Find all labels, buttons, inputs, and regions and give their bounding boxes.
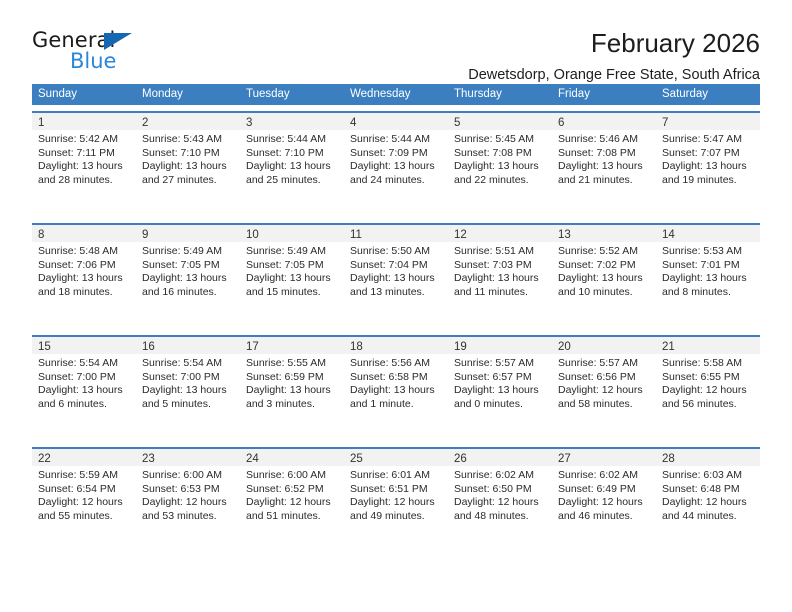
daylight-text-line1: Daylight: 13 hours	[454, 384, 545, 398]
sunset-text: Sunset: 7:02 PM	[558, 259, 649, 273]
daylight-text-line2: and 19 minutes.	[662, 174, 753, 188]
day-info: Sunrise: 5:49 AM Sunset: 7:05 PM Dayligh…	[240, 242, 344, 299]
sunset-text: Sunset: 6:49 PM	[558, 483, 649, 497]
day-number-band: 21	[656, 337, 760, 354]
day-number: 25	[350, 453, 363, 465]
sunset-text: Sunset: 7:00 PM	[142, 371, 233, 385]
daylight-text-line2: and 16 minutes.	[142, 286, 233, 300]
day-info: Sunrise: 5:51 AM Sunset: 7:03 PM Dayligh…	[448, 242, 552, 299]
day-info: Sunrise: 5:54 AM Sunset: 7:00 PM Dayligh…	[32, 354, 136, 411]
day-number-band: 10	[240, 225, 344, 242]
logo-text-blue: Blue	[70, 49, 116, 73]
day-info: Sunrise: 6:01 AM Sunset: 6:51 PM Dayligh…	[344, 466, 448, 523]
sunset-text: Sunset: 7:00 PM	[38, 371, 129, 385]
sunset-text: Sunset: 6:54 PM	[38, 483, 129, 497]
calendar-day-cell[interactable]: 6 Sunrise: 5:46 AM Sunset: 7:08 PM Dayli…	[552, 113, 656, 217]
day-number-band: 7	[656, 113, 760, 130]
sunrise-text: Sunrise: 5:45 AM	[454, 133, 545, 147]
page-subtitle: Dewetsdorp, Orange Free State, South Afr…	[152, 65, 760, 85]
sunrise-text: Sunrise: 5:56 AM	[350, 357, 441, 371]
sunrise-text: Sunrise: 6:02 AM	[558, 469, 649, 483]
sunset-text: Sunset: 7:10 PM	[246, 147, 337, 161]
daylight-text-line1: Daylight: 12 hours	[142, 496, 233, 510]
daylight-text-line1: Daylight: 13 hours	[350, 160, 441, 174]
daylight-text-line1: Daylight: 13 hours	[246, 272, 337, 286]
day-number: 18	[350, 341, 363, 353]
day-info: Sunrise: 5:50 AM Sunset: 7:04 PM Dayligh…	[344, 242, 448, 299]
sunset-text: Sunset: 7:05 PM	[142, 259, 233, 273]
sunrise-text: Sunrise: 5:44 AM	[246, 133, 337, 147]
sunrise-text: Sunrise: 6:01 AM	[350, 469, 441, 483]
day-number: 6	[558, 117, 564, 129]
day-info: Sunrise: 5:48 AM Sunset: 7:06 PM Dayligh…	[32, 242, 136, 299]
day-number: 12	[454, 229, 467, 241]
calendar-day-cell[interactable]: 1 Sunrise: 5:42 AM Sunset: 7:11 PM Dayli…	[32, 113, 136, 217]
day-info: Sunrise: 5:53 AM Sunset: 7:01 PM Dayligh…	[656, 242, 760, 299]
page-title: February 2026	[152, 28, 760, 58]
sunrise-text: Sunrise: 5:44 AM	[350, 133, 441, 147]
daylight-text-line2: and 18 minutes.	[38, 286, 129, 300]
day-number: 9	[142, 229, 148, 241]
day-info: Sunrise: 5:56 AM Sunset: 6:58 PM Dayligh…	[344, 354, 448, 411]
day-number: 21	[662, 341, 675, 353]
weekday-header-tuesday: Tuesday	[240, 84, 344, 105]
month-calendar: Sunday Monday Tuesday Wednesday Thursday…	[32, 84, 760, 553]
sunset-text: Sunset: 6:52 PM	[246, 483, 337, 497]
calendar-day-cell[interactable]: 4 Sunrise: 5:44 AM Sunset: 7:09 PM Dayli…	[344, 113, 448, 217]
day-number-band: 28	[656, 449, 760, 466]
daylight-text-line1: Daylight: 13 hours	[662, 272, 753, 286]
day-info: Sunrise: 5:57 AM Sunset: 6:57 PM Dayligh…	[448, 354, 552, 411]
daylight-text-line2: and 28 minutes.	[38, 174, 129, 188]
day-number-band: 23	[136, 449, 240, 466]
day-info: Sunrise: 5:52 AM Sunset: 7:02 PM Dayligh…	[552, 242, 656, 299]
daylight-text-line2: and 22 minutes.	[454, 174, 545, 188]
sunset-text: Sunset: 7:05 PM	[246, 259, 337, 273]
day-number-band: 15	[32, 337, 136, 354]
daylight-text-line2: and 11 minutes.	[454, 286, 545, 300]
daylight-text-line1: Daylight: 13 hours	[558, 272, 649, 286]
daylight-text-line2: and 8 minutes.	[662, 286, 753, 300]
day-number-band: 22	[32, 449, 136, 466]
calendar-day-cell[interactable]: 7 Sunrise: 5:47 AM Sunset: 7:07 PM Dayli…	[656, 113, 760, 217]
weekday-header-thursday: Thursday	[448, 84, 552, 105]
day-number-band: 9	[136, 225, 240, 242]
sunrise-text: Sunrise: 5:46 AM	[558, 133, 649, 147]
daylight-text-line1: Daylight: 12 hours	[454, 496, 545, 510]
day-number-band: 16	[136, 337, 240, 354]
day-number-band: 12	[448, 225, 552, 242]
day-number-band: 6	[552, 113, 656, 130]
sunrise-text: Sunrise: 6:00 AM	[142, 469, 233, 483]
sunrise-text: Sunrise: 5:55 AM	[246, 357, 337, 371]
day-number: 20	[558, 341, 571, 353]
calendar-day-cell[interactable]: 10 Sunrise: 5:49 AM Sunset: 7:05 PM Dayl…	[240, 225, 344, 329]
calendar-day-cell[interactable]: 15 Sunrise: 5:54 AM Sunset: 7:00 PM Dayl…	[32, 337, 136, 441]
day-number-band: 19	[448, 337, 552, 354]
calendar-day-cell[interactable]: 27 Sunrise: 6:02 AM Sunset: 6:49 PM Dayl…	[552, 449, 656, 553]
daylight-text-line1: Daylight: 13 hours	[38, 160, 129, 174]
day-number-band: 17	[240, 337, 344, 354]
daylight-text-line1: Daylight: 12 hours	[558, 496, 649, 510]
daylight-text-line2: and 46 minutes.	[558, 510, 649, 524]
sunset-text: Sunset: 7:10 PM	[142, 147, 233, 161]
daylight-text-line1: Daylight: 12 hours	[662, 384, 753, 398]
day-number-band: 25	[344, 449, 448, 466]
day-info: Sunrise: 6:02 AM Sunset: 6:49 PM Dayligh…	[552, 466, 656, 523]
daylight-text-line2: and 1 minute.	[350, 398, 441, 412]
day-number-band: 11	[344, 225, 448, 242]
daylight-text-line2: and 51 minutes.	[246, 510, 337, 524]
day-number-band: 2	[136, 113, 240, 130]
daylight-text-line2: and 49 minutes.	[350, 510, 441, 524]
sunrise-text: Sunrise: 5:54 AM	[142, 357, 233, 371]
sunset-text: Sunset: 7:04 PM	[350, 259, 441, 273]
day-number: 10	[246, 229, 259, 241]
daylight-text-line1: Daylight: 12 hours	[662, 496, 753, 510]
calendar-week-row: 22 Sunrise: 5:59 AM Sunset: 6:54 PM Dayl…	[32, 447, 760, 553]
daylight-text-line2: and 24 minutes.	[350, 174, 441, 188]
day-number: 23	[142, 453, 155, 465]
calendar-day-cell[interactable]: 23 Sunrise: 6:00 AM Sunset: 6:53 PM Dayl…	[136, 449, 240, 553]
calendar-day-cell[interactable]: 12 Sunrise: 5:51 AM Sunset: 7:03 PM Dayl…	[448, 225, 552, 329]
calendar-day-cell[interactable]: 26 Sunrise: 6:02 AM Sunset: 6:50 PM Dayl…	[448, 449, 552, 553]
calendar-day-cell[interactable]: 5 Sunrise: 5:45 AM Sunset: 7:08 PM Dayli…	[448, 113, 552, 217]
calendar-day-cell[interactable]: 20 Sunrise: 5:57 AM Sunset: 6:56 PM Dayl…	[552, 337, 656, 441]
day-number: 11	[350, 229, 362, 241]
day-number-band: 27	[552, 449, 656, 466]
day-number: 24	[246, 453, 259, 465]
weekday-header-saturday: Saturday	[656, 84, 760, 105]
daylight-text-line1: Daylight: 12 hours	[38, 496, 129, 510]
day-info: Sunrise: 6:02 AM Sunset: 6:50 PM Dayligh…	[448, 466, 552, 523]
daylight-text-line1: Daylight: 13 hours	[38, 384, 129, 398]
daylight-text-line2: and 55 minutes.	[38, 510, 129, 524]
weekday-header-wednesday: Wednesday	[344, 84, 448, 105]
daylight-text-line1: Daylight: 12 hours	[558, 384, 649, 398]
calendar-day-cell[interactable]: 8 Sunrise: 5:48 AM Sunset: 7:06 PM Dayli…	[32, 225, 136, 329]
sunrise-text: Sunrise: 5:49 AM	[246, 245, 337, 259]
day-number-band: 26	[448, 449, 552, 466]
day-info: Sunrise: 5:58 AM Sunset: 6:55 PM Dayligh…	[656, 354, 760, 411]
day-number-band: 4	[344, 113, 448, 130]
sunset-text: Sunset: 6:55 PM	[662, 371, 753, 385]
calendar-day-cell[interactable]: 22 Sunrise: 5:59 AM Sunset: 6:54 PM Dayl…	[32, 449, 136, 553]
day-number-band: 5	[448, 113, 552, 130]
calendar-week-row: 15 Sunrise: 5:54 AM Sunset: 7:00 PM Dayl…	[32, 335, 760, 441]
sunrise-text: Sunrise: 5:43 AM	[142, 133, 233, 147]
day-number: 26	[454, 453, 467, 465]
sunrise-text: Sunrise: 5:57 AM	[558, 357, 649, 371]
day-info: Sunrise: 5:49 AM Sunset: 7:05 PM Dayligh…	[136, 242, 240, 299]
sunset-text: Sunset: 7:03 PM	[454, 259, 545, 273]
day-number: 16	[142, 341, 155, 353]
sunset-text: Sunset: 6:58 PM	[350, 371, 441, 385]
daylight-text-line2: and 6 minutes.	[38, 398, 129, 412]
day-number: 3	[246, 117, 252, 129]
day-number: 28	[662, 453, 675, 465]
daylight-text-line1: Daylight: 13 hours	[142, 160, 233, 174]
daylight-text-line2: and 58 minutes.	[558, 398, 649, 412]
day-number: 4	[350, 117, 356, 129]
sunset-text: Sunset: 7:08 PM	[558, 147, 649, 161]
calendar-day-cell[interactable]: 18 Sunrise: 5:56 AM Sunset: 6:58 PM Dayl…	[344, 337, 448, 441]
calendar-day-cell[interactable]: 24 Sunrise: 6:00 AM Sunset: 6:52 PM Dayl…	[240, 449, 344, 553]
daylight-text-line2: and 0 minutes.	[454, 398, 545, 412]
weekday-header-sunday: Sunday	[32, 84, 136, 105]
weekday-header-row: Sunday Monday Tuesday Wednesday Thursday…	[32, 84, 760, 105]
daylight-text-line1: Daylight: 13 hours	[246, 160, 337, 174]
day-number-band: 18	[344, 337, 448, 354]
day-number: 15	[38, 341, 51, 353]
sunrise-text: Sunrise: 5:57 AM	[454, 357, 545, 371]
calendar-page: General Blue February 2026 Dewetsdorp, O…	[0, 0, 792, 612]
day-number-band: 24	[240, 449, 344, 466]
daylight-text-line2: and 3 minutes.	[246, 398, 337, 412]
sunrise-text: Sunrise: 5:47 AM	[662, 133, 753, 147]
calendar-week-row: 8 Sunrise: 5:48 AM Sunset: 7:06 PM Dayli…	[32, 223, 760, 329]
daylight-text-line2: and 13 minutes.	[350, 286, 441, 300]
daylight-text-line1: Daylight: 13 hours	[246, 384, 337, 398]
day-number-band: 8	[32, 225, 136, 242]
day-number: 27	[558, 453, 571, 465]
calendar-day-cell[interactable]: 14 Sunrise: 5:53 AM Sunset: 7:01 PM Dayl…	[656, 225, 760, 329]
day-info: Sunrise: 6:03 AM Sunset: 6:48 PM Dayligh…	[656, 466, 760, 523]
day-info: Sunrise: 5:47 AM Sunset: 7:07 PM Dayligh…	[656, 130, 760, 187]
daylight-text-line1: Daylight: 13 hours	[558, 160, 649, 174]
sunset-text: Sunset: 7:11 PM	[38, 147, 129, 161]
calendar-day-cell[interactable]: 28 Sunrise: 6:03 AM Sunset: 6:48 PM Dayl…	[656, 449, 760, 553]
daylight-text-line1: Daylight: 13 hours	[38, 272, 129, 286]
daylight-text-line1: Daylight: 13 hours	[350, 384, 441, 398]
daylight-text-line2: and 27 minutes.	[142, 174, 233, 188]
logo-triangle-icon	[104, 33, 132, 50]
calendar-day-cell[interactable]: 16 Sunrise: 5:54 AM Sunset: 7:00 PM Dayl…	[136, 337, 240, 441]
day-info: Sunrise: 5:57 AM Sunset: 6:56 PM Dayligh…	[552, 354, 656, 411]
day-number-band: 20	[552, 337, 656, 354]
day-info: Sunrise: 6:00 AM Sunset: 6:53 PM Dayligh…	[136, 466, 240, 523]
daylight-text-line1: Daylight: 13 hours	[350, 272, 441, 286]
sunrise-text: Sunrise: 5:59 AM	[38, 469, 129, 483]
sunset-text: Sunset: 7:06 PM	[38, 259, 129, 273]
sunset-text: Sunset: 6:48 PM	[662, 483, 753, 497]
day-info: Sunrise: 5:54 AM Sunset: 7:00 PM Dayligh…	[136, 354, 240, 411]
sunrise-text: Sunrise: 5:58 AM	[662, 357, 753, 371]
sunrise-text: Sunrise: 5:42 AM	[38, 133, 129, 147]
calendar-week-row: 1 Sunrise: 5:42 AM Sunset: 7:11 PM Dayli…	[32, 111, 760, 217]
daylight-text-line1: Daylight: 13 hours	[662, 160, 753, 174]
sunset-text: Sunset: 6:59 PM	[246, 371, 337, 385]
sunset-text: Sunset: 7:07 PM	[662, 147, 753, 161]
day-number-band: 14	[656, 225, 760, 242]
sunrise-text: Sunrise: 5:51 AM	[454, 245, 545, 259]
calendar-day-cell[interactable]: 19 Sunrise: 5:57 AM Sunset: 6:57 PM Dayl…	[448, 337, 552, 441]
sunrise-text: Sunrise: 6:03 AM	[662, 469, 753, 483]
day-number: 22	[38, 453, 51, 465]
title-block: February 2026 Dewetsdorp, Orange Free St…	[152, 28, 760, 85]
daylight-text-line2: and 10 minutes.	[558, 286, 649, 300]
calendar-day-cell[interactable]: 9 Sunrise: 5:49 AM Sunset: 7:05 PM Dayli…	[136, 225, 240, 329]
day-info: Sunrise: 5:45 AM Sunset: 7:08 PM Dayligh…	[448, 130, 552, 187]
day-number: 1	[38, 117, 44, 129]
daylight-text-line1: Daylight: 13 hours	[142, 384, 233, 398]
daylight-text-line2: and 56 minutes.	[662, 398, 753, 412]
sunset-text: Sunset: 7:01 PM	[662, 259, 753, 273]
sunrise-text: Sunrise: 5:50 AM	[350, 245, 441, 259]
calendar-day-cell[interactable]: 11 Sunrise: 5:50 AM Sunset: 7:04 PM Dayl…	[344, 225, 448, 329]
daylight-text-line2: and 44 minutes.	[662, 510, 753, 524]
day-info: Sunrise: 5:44 AM Sunset: 7:10 PM Dayligh…	[240, 130, 344, 187]
calendar-day-cell[interactable]: 17 Sunrise: 5:55 AM Sunset: 6:59 PM Dayl…	[240, 337, 344, 441]
day-number: 14	[662, 229, 675, 241]
daylight-text-line1: Daylight: 12 hours	[246, 496, 337, 510]
sunrise-text: Sunrise: 5:48 AM	[38, 245, 129, 259]
day-info: Sunrise: 5:44 AM Sunset: 7:09 PM Dayligh…	[344, 130, 448, 187]
daylight-text-line1: Daylight: 13 hours	[454, 272, 545, 286]
day-number: 13	[558, 229, 571, 241]
sunset-text: Sunset: 6:53 PM	[142, 483, 233, 497]
day-number-band: 13	[552, 225, 656, 242]
sunrise-text: Sunrise: 5:49 AM	[142, 245, 233, 259]
weekday-header-friday: Friday	[552, 84, 656, 105]
daylight-text-line2: and 25 minutes.	[246, 174, 337, 188]
daylight-text-line2: and 5 minutes.	[142, 398, 233, 412]
calendar-day-cell[interactable]: 25 Sunrise: 6:01 AM Sunset: 6:51 PM Dayl…	[344, 449, 448, 553]
day-info: Sunrise: 5:55 AM Sunset: 6:59 PM Dayligh…	[240, 354, 344, 411]
day-number-band: 1	[32, 113, 136, 130]
sunset-text: Sunset: 6:56 PM	[558, 371, 649, 385]
sunrise-text: Sunrise: 6:02 AM	[454, 469, 545, 483]
daylight-text-line1: Daylight: 13 hours	[142, 272, 233, 286]
daylight-text-line2: and 53 minutes.	[142, 510, 233, 524]
day-number-band: 3	[240, 113, 344, 130]
day-number: 17	[246, 341, 259, 353]
daylight-text-line2: and 48 minutes.	[454, 510, 545, 524]
day-info: Sunrise: 5:59 AM Sunset: 6:54 PM Dayligh…	[32, 466, 136, 523]
daylight-text-line1: Daylight: 12 hours	[350, 496, 441, 510]
sunrise-text: Sunrise: 5:53 AM	[662, 245, 753, 259]
day-number: 8	[38, 229, 44, 241]
day-info: Sunrise: 5:42 AM Sunset: 7:11 PM Dayligh…	[32, 130, 136, 187]
calendar-day-cell[interactable]: 21 Sunrise: 5:58 AM Sunset: 6:55 PM Dayl…	[656, 337, 760, 441]
sunset-text: Sunset: 7:08 PM	[454, 147, 545, 161]
general-blue-logo[interactable]: General Blue	[32, 28, 152, 74]
sunrise-text: Sunrise: 5:54 AM	[38, 357, 129, 371]
daylight-text-line1: Daylight: 13 hours	[454, 160, 545, 174]
day-info: Sunrise: 5:43 AM Sunset: 7:10 PM Dayligh…	[136, 130, 240, 187]
weekday-header-monday: Monday	[136, 84, 240, 105]
calendar-day-cell[interactable]: 2 Sunrise: 5:43 AM Sunset: 7:10 PM Dayli…	[136, 113, 240, 217]
day-number: 7	[662, 117, 668, 129]
day-info: Sunrise: 5:46 AM Sunset: 7:08 PM Dayligh…	[552, 130, 656, 187]
day-number: 19	[454, 341, 467, 353]
sunrise-text: Sunrise: 5:52 AM	[558, 245, 649, 259]
day-number: 5	[454, 117, 460, 129]
sunset-text: Sunset: 6:50 PM	[454, 483, 545, 497]
day-number: 2	[142, 117, 148, 129]
daylight-text-line2: and 15 minutes.	[246, 286, 337, 300]
page-header: General Blue February 2026 Dewetsdorp, O…	[32, 0, 760, 72]
sunset-text: Sunset: 7:09 PM	[350, 147, 441, 161]
day-info: Sunrise: 6:00 AM Sunset: 6:52 PM Dayligh…	[240, 466, 344, 523]
sunrise-text: Sunrise: 6:00 AM	[246, 469, 337, 483]
calendar-day-cell[interactable]: 13 Sunrise: 5:52 AM Sunset: 7:02 PM Dayl…	[552, 225, 656, 329]
daylight-text-line2: and 21 minutes.	[558, 174, 649, 188]
sunset-text: Sunset: 6:57 PM	[454, 371, 545, 385]
calendar-day-cell[interactable]: 3 Sunrise: 5:44 AM Sunset: 7:10 PM Dayli…	[240, 113, 344, 217]
sunset-text: Sunset: 6:51 PM	[350, 483, 441, 497]
